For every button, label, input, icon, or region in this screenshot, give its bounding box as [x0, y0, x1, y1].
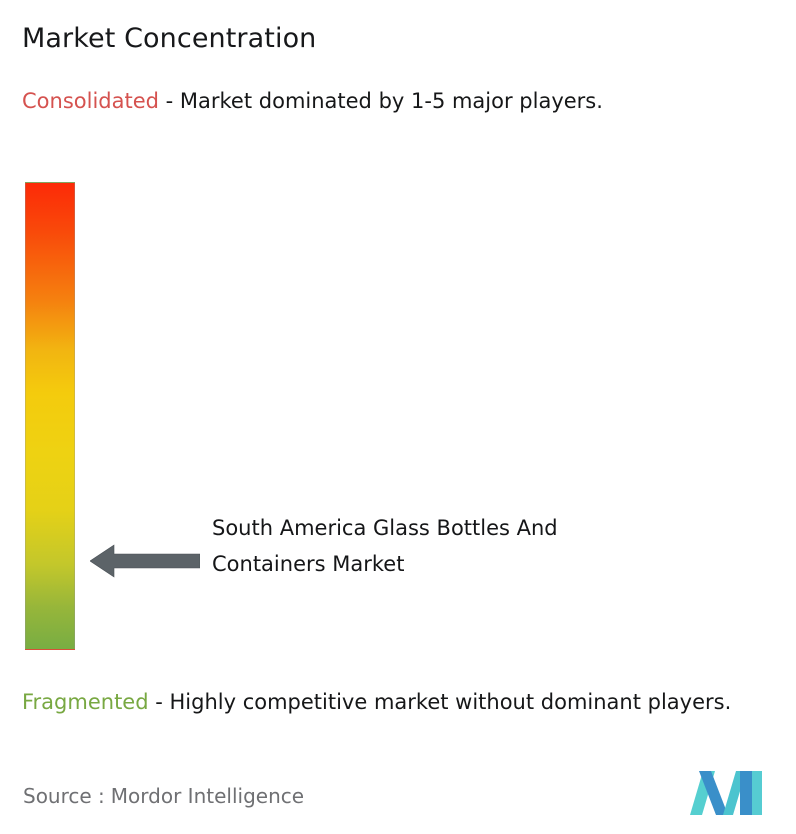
market-pointer-arrow [90, 538, 200, 584]
source-line: Source :Mordor Intelligence [23, 783, 304, 809]
market-label: South America Glass Bottles And Containe… [212, 510, 612, 582]
mordor-intelligence-logo [690, 771, 762, 815]
left-arrow-icon [90, 538, 200, 584]
legend-consolidated: Consolidated - Market dominated by 1-5 m… [22, 85, 762, 118]
source-label: Source : [23, 784, 105, 808]
legend-fragmented-description: - Highly competitive market without domi… [149, 690, 732, 714]
legend-consolidated-description: - Market dominated by 1-5 major players. [159, 89, 603, 113]
concentration-gradient-scale [25, 182, 75, 650]
legend-consolidated-term: Consolidated [22, 89, 159, 113]
source-value: Mordor Intelligence [111, 784, 304, 808]
legend-fragmented-term: Fragmented [22, 690, 149, 714]
mordor-logo-icon [690, 771, 762, 815]
page-title: Market Concentration [22, 22, 316, 56]
legend-fragmented: Fragmented - Highly competitive market w… [22, 686, 782, 719]
